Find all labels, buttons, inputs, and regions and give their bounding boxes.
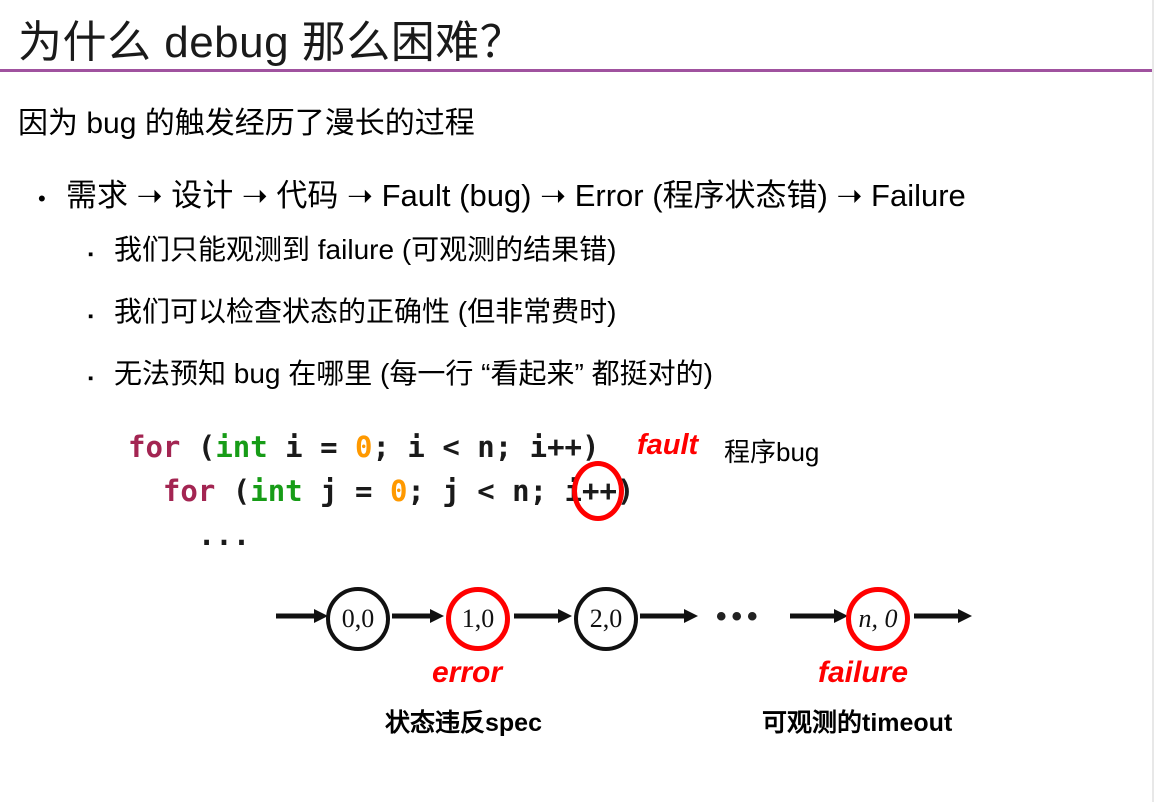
failure-annotation-label: failure <box>818 656 908 690</box>
bullet-dot-icon: • <box>38 188 66 210</box>
arrow-node1-to-node2-icon <box>514 606 572 626</box>
state-diagram: 0,0 1,0 2,0 ••• n, 0 <box>0 570 1154 680</box>
state-node-2-0: 2,0 <box>574 587 638 651</box>
state-node-n-0: n, 0 <box>846 587 910 651</box>
code-var-assign: j = <box>303 474 390 508</box>
bullet-square-icon: ▪ <box>88 247 114 262</box>
subtitle: 因为 bug 的触发经历了漫长的过程 <box>18 98 475 142</box>
bullet-text: 我们可以检查状态的正确性 (但非常费时) <box>114 290 616 330</box>
bullet-text: 需求 ➝ 设计 ➝ 代码 ➝ Fault (bug) ➝ Error (程序状态… <box>66 170 966 215</box>
state-node-label: 1,0 <box>462 604 495 634</box>
code-number-zero: 0 <box>390 474 407 508</box>
bug-highlight-ellipse-icon <box>572 461 624 521</box>
state-node-label: n, 0 <box>859 604 898 634</box>
code-snippet: for (int i = 0; i < n; i++) for (int j =… <box>128 425 634 557</box>
failure-annotation-caption: 可观测的timeout <box>762 703 952 739</box>
state-node-0-0: 0,0 <box>326 587 390 651</box>
arrow-into-node-n-icon <box>790 606 848 626</box>
fault-annotation-caption: 程序bug <box>724 432 819 469</box>
code-keyword-for: for <box>163 474 215 508</box>
code-line-2: for (int j = 0; j < n; i++) <box>128 474 634 508</box>
code-var-assign: i = <box>268 430 355 464</box>
arrow-out-of-node2-icon <box>640 606 698 626</box>
error-annotation-caption: 状态违反spec <box>385 703 542 739</box>
state-node-label: 0,0 <box>342 604 375 634</box>
bullet-item-unknown-bug: ▪ 无法预知 bug 在哪里 (每一行 “看起来” 都挺对的) <box>88 352 713 392</box>
fault-annotation-label: fault <box>637 429 698 462</box>
bullet-item-observe-failure: ▪ 我们只能观测到 failure (可观测的结果错) <box>88 228 616 268</box>
code-number-zero: 0 <box>355 430 372 464</box>
title-divider <box>0 69 1152 72</box>
bullet-item-check-state: ▪ 我们可以检查状态的正确性 (但非常费时) <box>88 290 616 330</box>
code-condition: ; i < n; i++) <box>372 430 599 464</box>
bullet-square-icon: ▪ <box>88 309 114 324</box>
diagram-ellipsis: ••• <box>716 600 763 634</box>
arrow-out-of-node-n-icon <box>914 606 972 626</box>
bullet-square-icon: ▪ <box>88 371 114 386</box>
code-line-3-ellipsis: ... <box>128 518 250 552</box>
state-node-1-0: 1,0 <box>446 587 510 651</box>
code-line-1: for (int i = 0; i < n; i++) <box>128 430 599 464</box>
bullet-text: 无法预知 bug 在哪里 (每一行 “看起来” 都挺对的) <box>114 352 713 392</box>
arrow-into-node-0-icon <box>276 606 328 626</box>
state-node-label: 2,0 <box>590 604 623 634</box>
code-keyword-for: for <box>128 430 180 464</box>
code-type-int: int <box>215 430 267 464</box>
arrow-node0-to-node1-icon <box>392 606 444 626</box>
bullet-text: 我们只能观测到 failure (可观测的结果错) <box>114 228 616 268</box>
code-punct: ( <box>180 430 215 464</box>
code-type-int: int <box>250 474 302 508</box>
code-indent <box>128 474 163 508</box>
error-annotation-label: error <box>432 656 502 690</box>
bullet-item-pipeline: • 需求 ➝ 设计 ➝ 代码 ➝ Fault (bug) ➝ Error (程序… <box>38 170 966 215</box>
page-title: 为什么 debug 那么困难？ <box>18 6 524 70</box>
code-punct: ( <box>215 474 250 508</box>
